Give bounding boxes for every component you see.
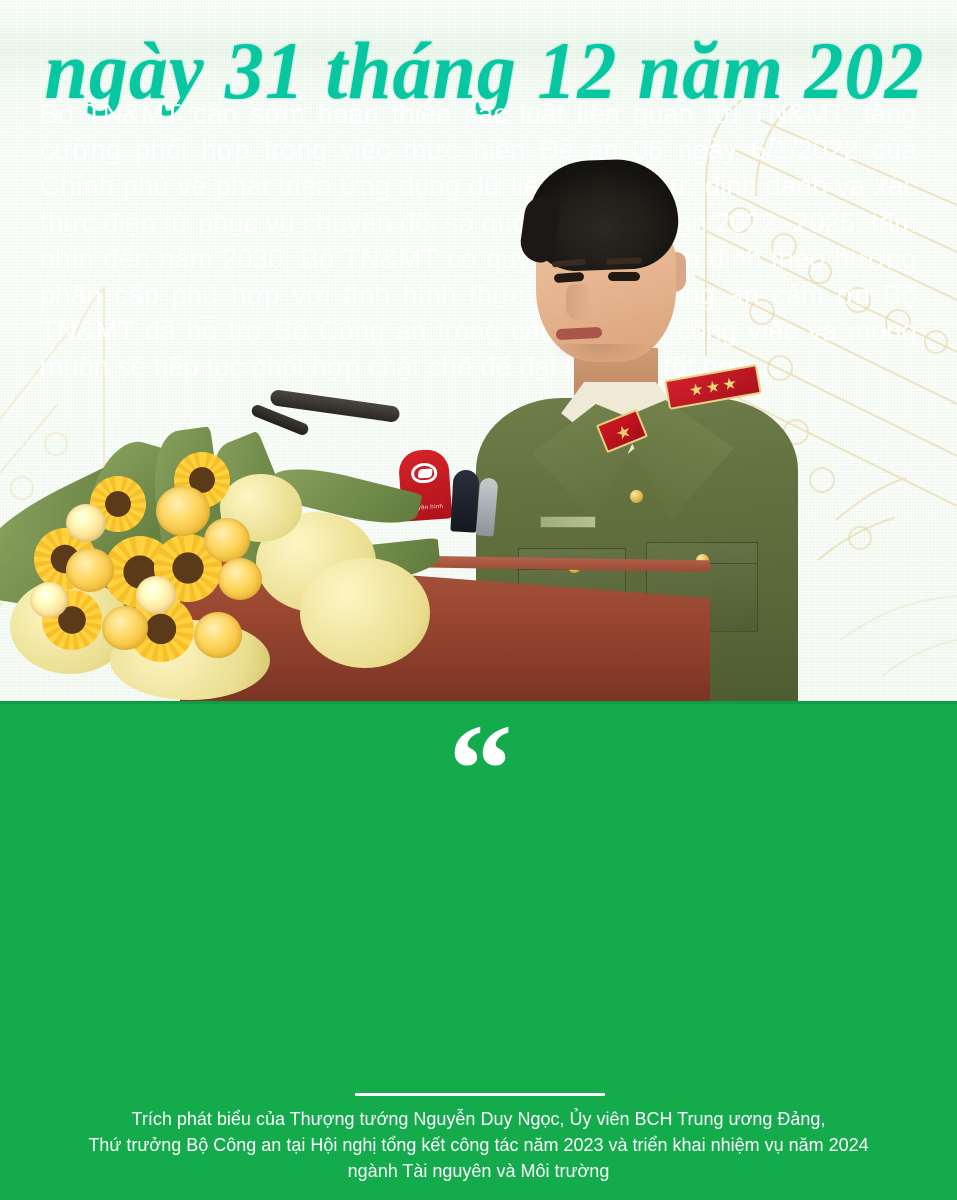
name-ribbon <box>540 516 596 528</box>
attribution-line-1: Trích phát biểu của Thượng tướng Nguyễn … <box>40 1106 917 1132</box>
eye-right <box>608 272 640 281</box>
microphone-dark <box>450 469 479 532</box>
chin-shadow <box>550 344 650 366</box>
infographic-quote-card: ngày 31 tháng 12 năm 202 <box>0 0 957 1200</box>
attribution-line-3: ngành Tài nguyên và Môi trường <box>40 1158 917 1184</box>
yellow-rose <box>204 518 250 562</box>
jacket-button <box>630 490 643 503</box>
eyebrow-right <box>606 257 642 264</box>
cream-rose <box>30 582 68 618</box>
cream-rose <box>66 504 106 542</box>
yellow-rose <box>102 606 148 650</box>
attribution-divider <box>355 1093 605 1096</box>
rank-star-icon <box>705 379 720 394</box>
yellow-rose <box>194 612 242 658</box>
yellow-rose <box>218 558 262 600</box>
open-quote-icon: “ <box>0 720 957 820</box>
rank-star-icon <box>689 382 704 397</box>
nose <box>566 284 590 320</box>
yellow-rose <box>66 548 114 592</box>
quote-text: Bộ TN&MT cần sớm hoàn thiện các luật liê… <box>40 96 917 386</box>
attribution-block: Trích phát biểu của Thượng tướng Nguyễn … <box>40 1106 917 1184</box>
hair <box>526 157 680 272</box>
rank-star-icon <box>722 377 737 392</box>
yellow-rose <box>156 486 210 536</box>
attribution-line-2: Thứ trưởng Bộ Công an tại Hội nghị tổng … <box>40 1132 917 1158</box>
flower-bouquet <box>0 430 440 701</box>
cream-rose <box>136 576 176 614</box>
filler-flowers <box>300 558 430 668</box>
